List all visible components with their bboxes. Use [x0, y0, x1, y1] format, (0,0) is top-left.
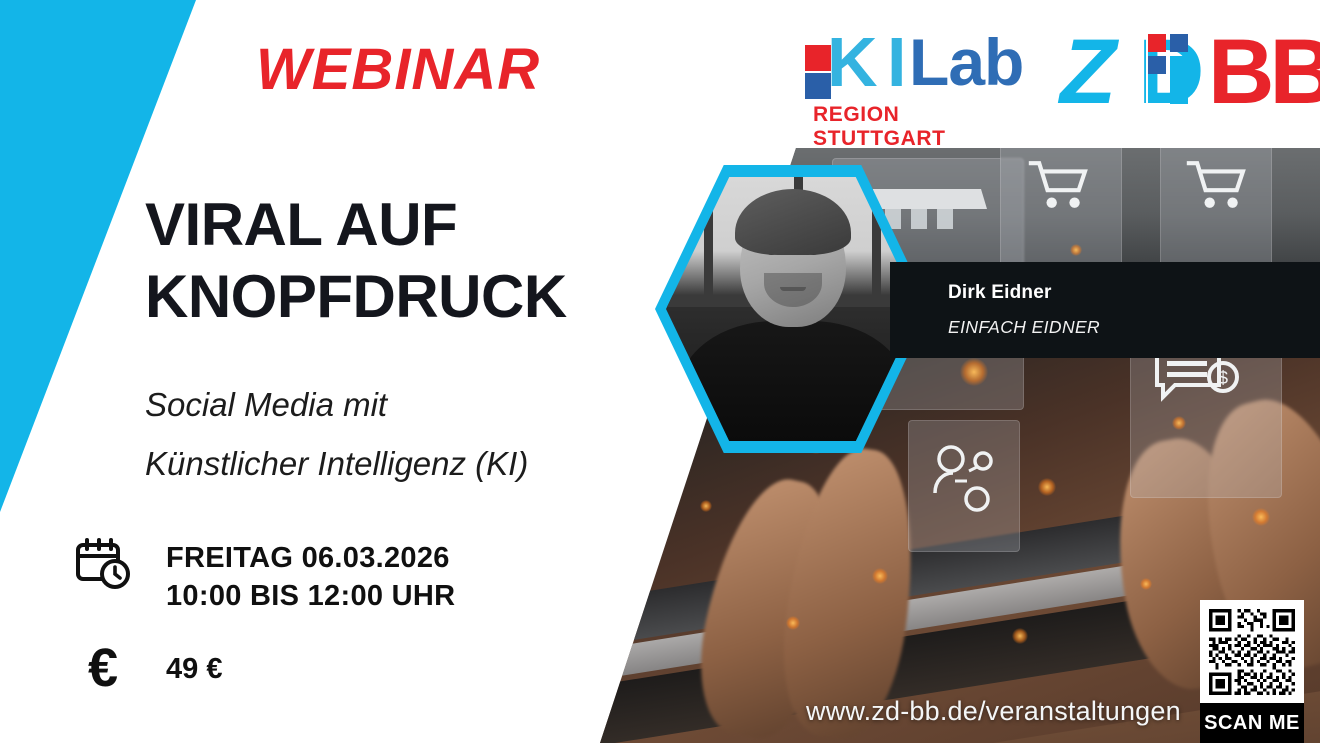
kilab-letter-i: I: [887, 27, 906, 97]
zdbb-square-red: [1148, 34, 1166, 52]
webinar-badge: WEBINAR: [256, 36, 540, 103]
cart-card-left: [560, 386, 658, 492]
svg-text:$: $: [1218, 368, 1228, 388]
kilab-word-lab: Lab: [909, 29, 1023, 95]
speaker-organisation: EINFACH EIDNER: [948, 317, 1320, 338]
event-date-text: FREITAG 06.03.2026 10:00 BIS 12:00 UHR: [134, 537, 455, 615]
calendar-clock-icon: [72, 537, 134, 589]
user-network-icon: [925, 441, 1005, 521]
qr-code-image: [1206, 606, 1298, 698]
euro-symbol: €: [88, 641, 118, 695]
zdbb-square-navy-2: [1148, 56, 1166, 74]
zdbb-letters-bb: BB: [1208, 26, 1320, 118]
webinar-poster: $: [0, 0, 1320, 743]
shopping-cart-icon: [575, 409, 639, 459]
page-subtitle: Social Media mit Künstlicher Intelligenz…: [145, 375, 528, 493]
event-time: 10:00 BIS 12:00 UHR: [166, 577, 455, 615]
shopping-cart-icon: [1025, 159, 1095, 211]
event-url[interactable]: www.zd-bb.de/veranstaltungen: [806, 696, 1181, 727]
speaker-hexagon-portrait: [655, 165, 930, 453]
subtitle-line-1: Social Media mit: [145, 375, 528, 434]
event-details: FREITAG 06.03.2026 10:00 BIS 12:00 UHR €…: [72, 537, 542, 721]
cart-card-right: [1160, 148, 1272, 280]
zdbb-logo: Z D BB: [1060, 26, 1300, 122]
subtitle-line-2: Künstlicher Intelligenz (KI): [145, 434, 528, 493]
title-line-2: KNOPFDRUCK: [145, 261, 567, 333]
zdbb-letter-z: Z: [1060, 26, 1110, 118]
speaker-name-band: Dirk Eidner EINFACH EIDNER: [890, 262, 1320, 358]
kilab-subtitle: REGION STUTTGART: [813, 103, 1027, 151]
event-price: 49 €: [134, 641, 222, 686]
event-date: FREITAG 06.03.2026: [166, 539, 455, 577]
euro-icon: €: [72, 641, 134, 695]
shopping-cart-icon: [1183, 159, 1253, 211]
speaker-hair: [735, 189, 851, 255]
zdbb-square-navy: [1170, 34, 1188, 52]
qr-matrix: [1206, 606, 1298, 698]
page-title: VIRAL AUF KNOPFDRUCK: [145, 189, 567, 333]
kilab-letter-k: K: [827, 27, 875, 97]
event-price-row: € 49 €: [72, 641, 542, 695]
speaker-name: Dirk Eidner: [948, 282, 1320, 305]
qr-code[interactable]: SCAN ME: [1200, 600, 1304, 743]
zdbb-square-cyan: [1170, 56, 1188, 104]
title-line-1: VIRAL AUF: [145, 189, 567, 261]
event-date-row: FREITAG 06.03.2026 10:00 BIS 12:00 UHR: [72, 537, 542, 615]
kilab-logo: K I Lab REGION STUTTGART: [805, 27, 1027, 132]
qr-scan-label: SCAN ME: [1200, 703, 1304, 743]
